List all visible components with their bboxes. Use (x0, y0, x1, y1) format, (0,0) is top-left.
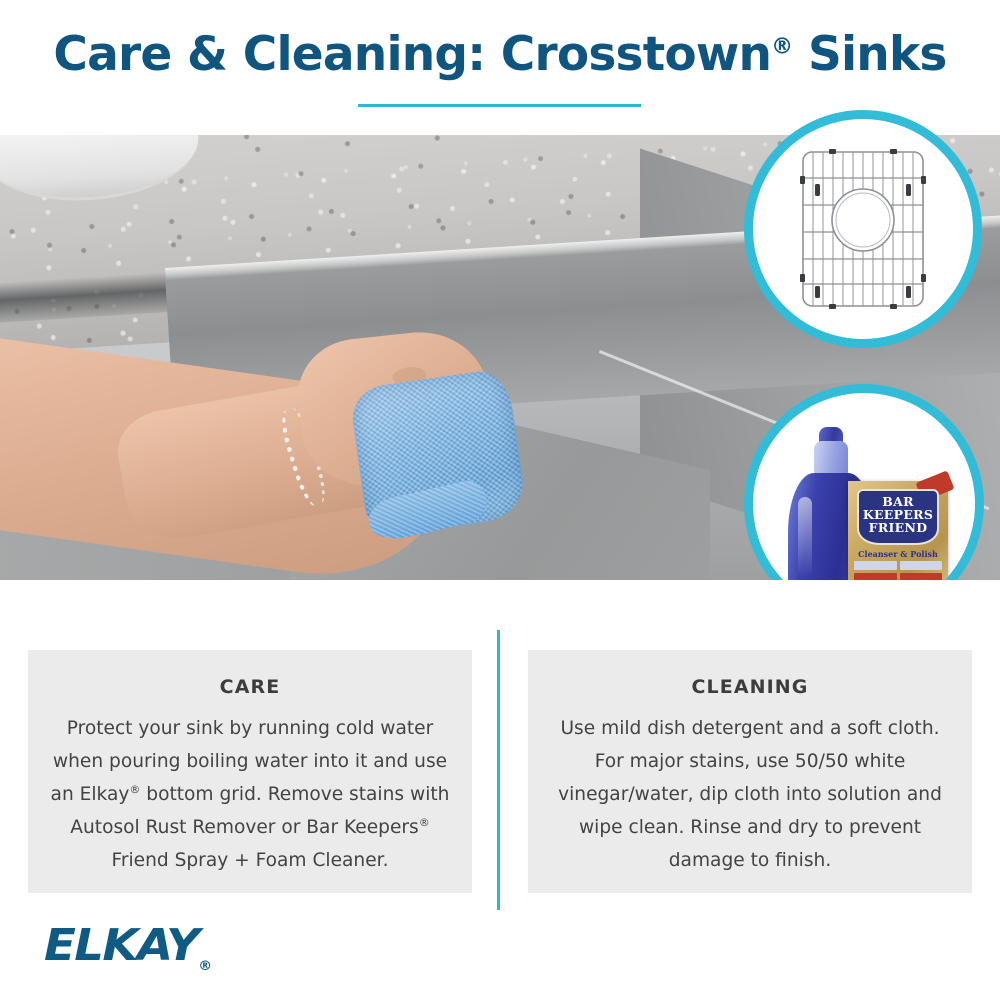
packet-subtitle: Cleanser & Polish (848, 549, 948, 559)
title-underline-accent (358, 104, 641, 107)
panel-cleaning-body: Use mild dish detergent and a soft cloth… (550, 712, 950, 877)
footer: ELKAY® (0, 910, 1000, 1000)
panel-divider (497, 630, 500, 930)
elkay-logo-text: ELKAY (44, 920, 198, 971)
packet-brand-line-3: FRIEND (859, 521, 937, 534)
panel-cleaning-heading: CLEANING (550, 676, 950, 698)
badge-bottom-grid (744, 110, 982, 348)
packet-chip (854, 561, 897, 570)
registered-trademark-icon: ® (419, 816, 430, 829)
registered-trademark-icon: ® (198, 959, 210, 974)
panel-care-heading: CARE (50, 676, 450, 698)
panel-cleaning: CLEANING Use mild dish detergent and a s… (528, 650, 972, 893)
registered-trademark-icon: ® (771, 34, 792, 59)
page-title: Care & Cleaning: Crosstown® Sinks (0, 27, 1000, 82)
page-title-main: Care & Cleaning: Crosstown (53, 27, 771, 82)
badge-bottom-grid-inner (753, 119, 973, 339)
packet-chip (900, 561, 943, 570)
page-title-tail: Sinks (792, 27, 946, 82)
bottom-grid-icon (799, 148, 927, 310)
cleaning-products-art: BAR KEEPERS FRIEND Cleanser & Polish (764, 409, 964, 599)
panel-care-body-part-3: Friend Spray + Foam Cleaner. (111, 850, 388, 871)
panel-care: CARE Protect your sink by running cold w… (28, 650, 472, 893)
packet-brand-shield: BAR KEEPERS FRIEND (857, 489, 939, 545)
panel-care-body: Protect your sink by running cold water … (50, 712, 450, 877)
soap-highlight (798, 497, 812, 577)
registered-trademark-icon: ® (129, 783, 140, 796)
packet-info-row (854, 561, 942, 570)
elkay-logo: ELKAY® (44, 920, 210, 971)
